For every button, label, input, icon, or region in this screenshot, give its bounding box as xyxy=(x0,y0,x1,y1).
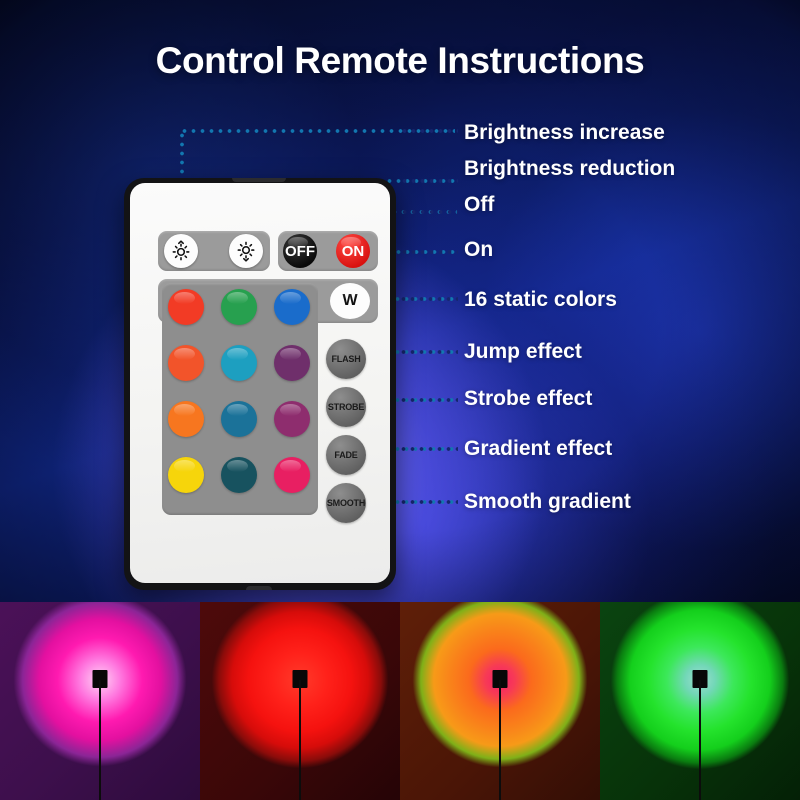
leader-line-strobe-effect-tail xyxy=(399,398,458,402)
leader-line-gradient-effect-tail xyxy=(399,447,458,451)
color-swatch[interactable] xyxy=(221,457,257,493)
color-swatch[interactable] xyxy=(274,401,310,437)
color-swatch[interactable] xyxy=(168,457,204,493)
leader-line-off-tail xyxy=(400,210,458,214)
legend-label-off: Off xyxy=(464,193,494,217)
remote-faceplate: OFF ON R G B W xyxy=(130,183,390,583)
legend-label-brightness-increase: Brightness increase xyxy=(464,121,665,145)
strobe-button[interactable]: STROBE xyxy=(326,387,366,427)
color-swatch[interactable] xyxy=(168,289,204,325)
background-gradient xyxy=(0,0,800,602)
remote-bottom-notch xyxy=(246,586,272,590)
remote-control: OFF ON R G B W xyxy=(124,178,396,590)
color-swatch[interactable] xyxy=(274,289,310,325)
lamp-panel-green xyxy=(600,602,800,800)
remote-top-notch xyxy=(232,178,286,182)
legend-label-static-colors: 16 static colors xyxy=(464,288,617,312)
lamp-pole xyxy=(99,680,101,800)
page-title: Control Remote Instructions xyxy=(0,40,800,82)
sun-down-icon xyxy=(235,240,257,262)
legend-label-brightness-reduction: Brightness reduction xyxy=(464,157,675,181)
leader-line-brightness-increase-tail xyxy=(400,129,458,133)
poster: Control Remote Instructions xyxy=(0,0,800,800)
lamp-photo-strip xyxy=(0,602,800,800)
color-swatch[interactable] xyxy=(221,401,257,437)
lamp-pole xyxy=(699,680,701,800)
on-button[interactable]: ON xyxy=(336,234,370,268)
color-swatch[interactable] xyxy=(274,457,310,493)
leader-line-static-colors-tail xyxy=(399,297,458,301)
power-button-plate: OFF ON xyxy=(278,231,378,271)
lamp-panel-sunset xyxy=(400,602,600,800)
lamp-pole xyxy=(499,680,501,800)
white-button[interactable]: W xyxy=(330,283,370,319)
color-swatch[interactable] xyxy=(221,345,257,381)
leader-line-jump-effect-tail xyxy=(399,350,458,354)
legend-label-strobe-effect: Strobe effect xyxy=(464,387,592,411)
legend-label-jump-effect: Jump effect xyxy=(464,340,582,364)
lamp-pole xyxy=(299,680,301,800)
legend-label-gradient-effect: Gradient effect xyxy=(464,437,612,461)
leader-line-smooth-gradient-tail xyxy=(399,500,458,504)
fade-button[interactable]: FADE xyxy=(326,435,366,475)
sun-up-icon xyxy=(170,240,192,262)
flash-button[interactable]: FLASH xyxy=(326,339,366,379)
static-color-grid xyxy=(162,283,318,515)
legend-label-on: On xyxy=(464,238,493,262)
off-button[interactable]: OFF xyxy=(283,234,317,268)
leader-line-brightness-reduction-tail xyxy=(400,179,458,183)
color-swatch[interactable] xyxy=(168,401,204,437)
leader-line-on-tail xyxy=(400,250,458,254)
color-swatch[interactable] xyxy=(221,289,257,325)
brightness-reduction-button[interactable] xyxy=(229,234,263,268)
brightness-increase-button[interactable] xyxy=(164,234,198,268)
legend-label-smooth-gradient: Smooth gradient xyxy=(464,490,631,514)
smooth-button[interactable]: SMOOTH xyxy=(326,483,366,523)
lamp-panel-magenta xyxy=(0,602,200,800)
color-swatch[interactable] xyxy=(274,345,310,381)
lamp-panel-red xyxy=(200,602,400,800)
color-swatch[interactable] xyxy=(168,345,204,381)
brightness-button-plate xyxy=(158,231,270,271)
